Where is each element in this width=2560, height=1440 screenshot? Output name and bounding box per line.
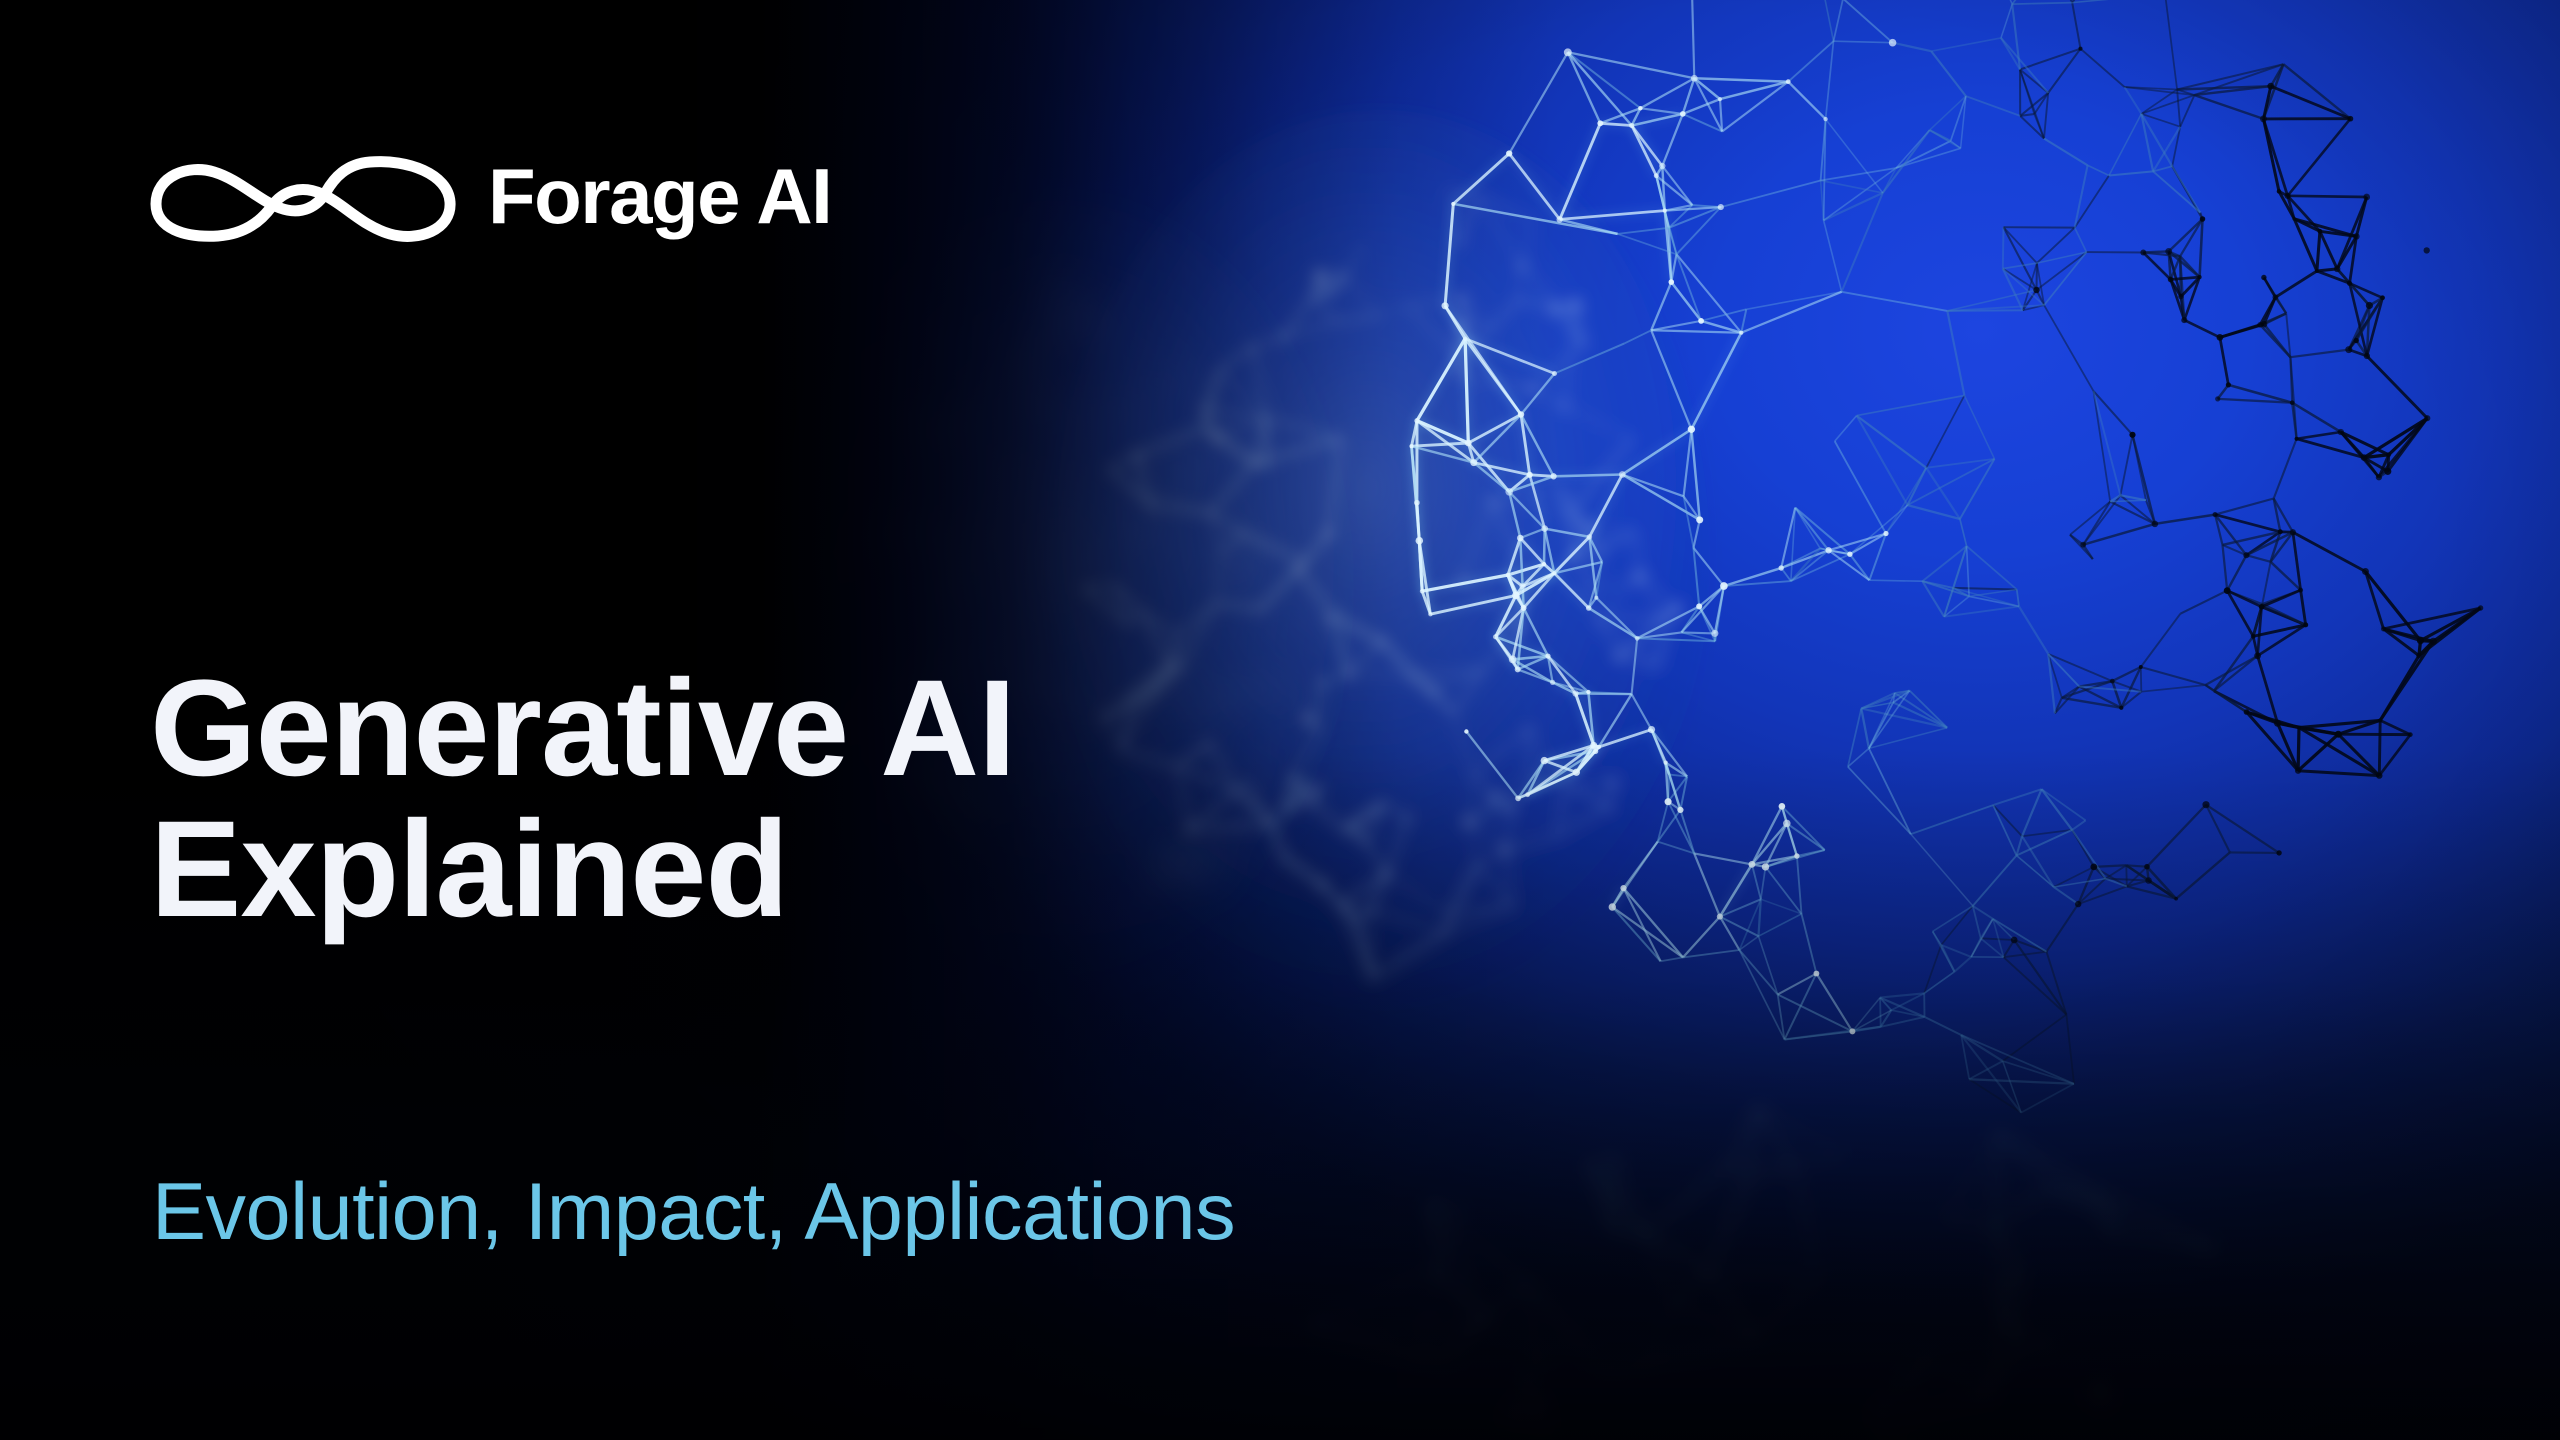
content-layer: Forage AI Generative AI Explained Evolut… xyxy=(0,0,2560,1440)
infinity-ribbon-icon xyxy=(148,142,460,250)
banner-slide: Forage AI Generative AI Explained Evolut… xyxy=(0,0,2560,1440)
page-title: Generative AI Explained xyxy=(150,658,1015,940)
brand-name: Forage AI xyxy=(488,157,831,235)
subtitle: Evolution, Impact, Applications xyxy=(152,1168,1235,1257)
brand-logo[interactable]: Forage AI xyxy=(148,142,831,250)
